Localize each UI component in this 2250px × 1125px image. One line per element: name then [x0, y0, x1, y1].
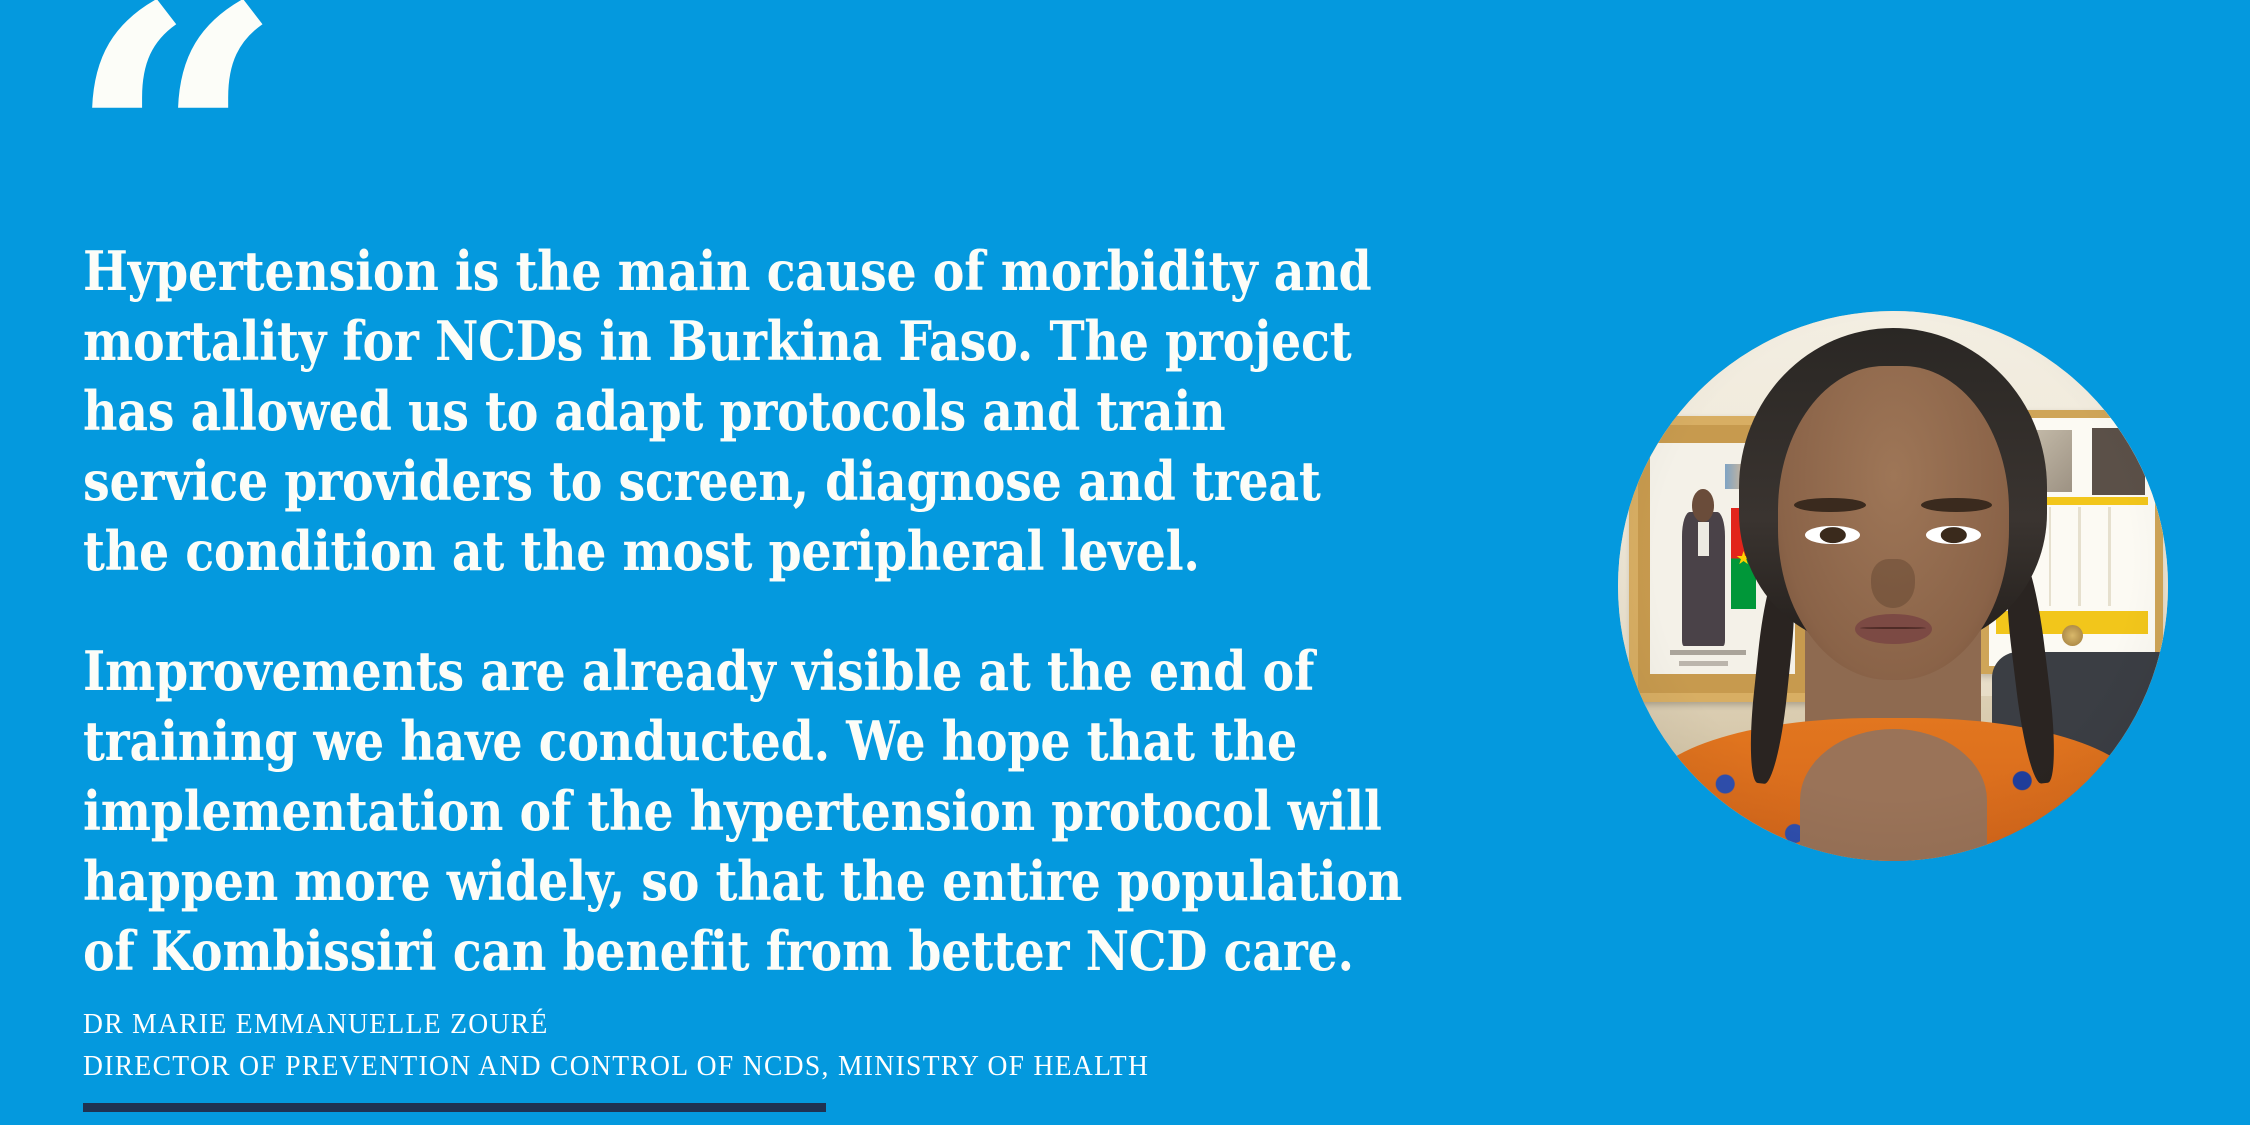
- poster-divider-3: [2078, 507, 2080, 606]
- poster-food-icon-2: [2062, 625, 2084, 647]
- subject-chest: [1800, 729, 1987, 861]
- quote-text-block: Hypertension is the main cause of morbid…: [83, 236, 1583, 986]
- quote-card: “ Hypertension is the main cause of morb…: [0, 0, 2250, 1125]
- portrait-avatar: ★: [1618, 311, 2168, 861]
- subject-pupil-right: [1940, 527, 1966, 543]
- portrait-subject-head: [1692, 489, 1714, 521]
- poster-divider-2: [2049, 507, 2051, 606]
- poster-photo-right: [2092, 428, 2145, 495]
- poster-divider-4: [2108, 507, 2110, 606]
- attribution-underline-rule: [83, 1103, 826, 1112]
- attribution-title: DIRECTOR OF PREVENTION AND CONTROL OF NC…: [83, 1045, 1508, 1087]
- attribution-name: DR MARIE EMMANUELLE ZOURÉ: [83, 1003, 1508, 1045]
- frame-caption-line-1: [1670, 650, 1746, 656]
- quote-paragraph-1: Hypertension is the main cause of morbid…: [83, 236, 1403, 586]
- portrait-subject-shirt: [1698, 522, 1710, 557]
- frame-caption-line-2: [1679, 661, 1728, 666]
- quote-paragraph-2: Improvements are already visible at the …: [83, 636, 1403, 986]
- attribution-block: DR MARIE EMMANUELLE ZOURÉ DIRECTOR OF PR…: [83, 1003, 1583, 1087]
- portrait-photo: ★: [1618, 311, 2168, 861]
- subject-pupil-left: [1819, 527, 1845, 543]
- subject-eye-left: [1805, 526, 1860, 545]
- subject-eye-right: [1926, 526, 1981, 545]
- subject-nose: [1871, 559, 1915, 609]
